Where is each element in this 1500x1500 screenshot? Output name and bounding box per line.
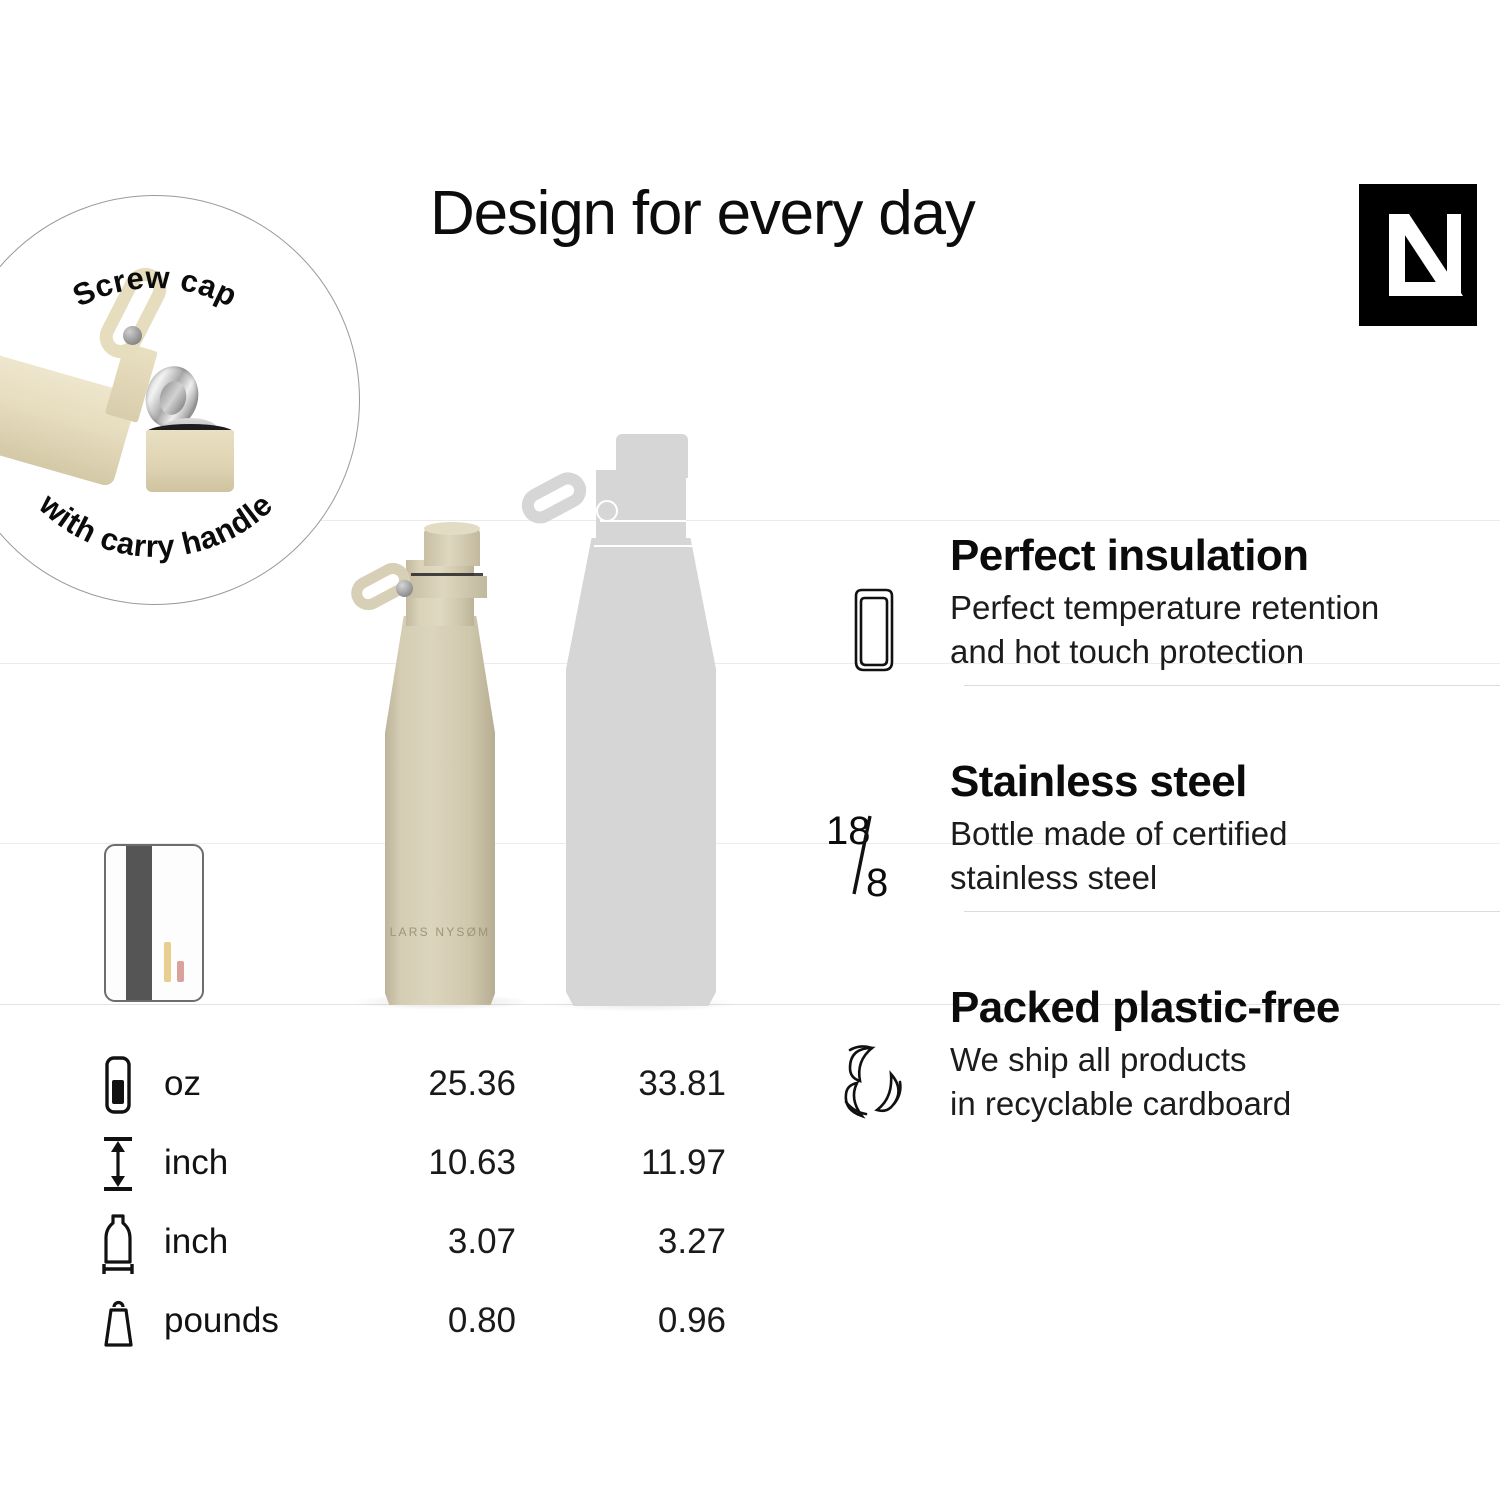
insulated-cup-icon (828, 578, 920, 682)
spec-label: pounds (164, 1301, 279, 1341)
card-magnetic-stripe (126, 844, 152, 1002)
feature-item-insulation: Perfect insulation Perfect temperature r… (820, 532, 1500, 758)
ghost-bottle-detail-line-1 (600, 520, 686, 522)
spec-value-small: 25.36 (306, 1064, 516, 1104)
feature-divider (964, 911, 1500, 912)
feature-item-plastic-free: Packed plastic-free We ship all products… (820, 984, 1500, 1210)
feature-item-stainless-steel: 18 8 Stainless steel Bottle made of cert… (820, 758, 1500, 984)
feature-desc-line-1: Bottle made of certified (950, 815, 1288, 852)
fraction-denominator: 8 (866, 861, 888, 905)
eighteen-eight-fraction-icon: 18 8 (820, 798, 930, 908)
weight-icon (96, 1291, 140, 1353)
feature-desc-line-2: stainless steel (950, 859, 1157, 896)
feature-desc-line-1: We ship all products (950, 1041, 1247, 1078)
height-arrow-icon (96, 1133, 140, 1195)
spec-label: inch (164, 1222, 228, 1262)
table-row: pounds 0.80 0.96 (96, 1285, 756, 1364)
feature-title: Stainless steel (950, 758, 1500, 806)
page-title: Design for every day (430, 178, 975, 249)
feature-description: Bottle made of certified stainless steel (950, 812, 1500, 902)
table-row: inch 3.07 3.27 (96, 1206, 756, 1285)
callout-bottom-label: with carry handle (32, 486, 279, 564)
ghost-bottle-rivet (596, 500, 618, 522)
product-bottle-handle-rivet (396, 580, 413, 597)
feature-desc-line-1: Perfect temperature retention (950, 589, 1379, 626)
spec-value-small: 10.63 (306, 1143, 516, 1183)
spec-value-small: 3.07 (306, 1222, 516, 1262)
brand-logo (1359, 184, 1477, 326)
spec-value-large: 11.97 (516, 1143, 726, 1183)
table-row: oz 25.36 33.81 (96, 1048, 756, 1127)
bottle-brand-text: LARS NYSØM (385, 925, 495, 939)
ghost-bottle-body (566, 538, 716, 1006)
card-accent-bar-2 (177, 961, 184, 982)
product-bottle-collar-ring (407, 576, 487, 598)
spec-value-small: 0.80 (306, 1301, 516, 1341)
feature-desc-line-2: and hot touch protection (950, 633, 1304, 670)
product-bottle-body (385, 616, 495, 1005)
specification-table: oz 25.36 33.81 inch 10.63 11.97 (96, 1048, 756, 1364)
callout-top-label: Screw cap (67, 260, 242, 314)
ghost-bottle-detail-line-2 (594, 545, 694, 547)
bottle-width-icon (96, 1212, 140, 1274)
table-row: inch 10.63 11.97 (96, 1127, 756, 1206)
spec-label: inch (164, 1143, 228, 1183)
infographic-canvas: Design for every day Screw cap with carr… (0, 0, 1500, 1500)
spec-value-large: 3.27 (516, 1222, 726, 1262)
card-accent-bar-1 (164, 942, 171, 982)
credit-card-size-reference (104, 844, 204, 1002)
spec-label: oz (164, 1064, 201, 1104)
feature-title: Packed plastic-free (950, 984, 1500, 1032)
feature-desc-line-2: in recyclable cardboard (950, 1085, 1291, 1122)
recycle-leaves-icon (828, 1030, 920, 1134)
spec-value-large: 33.81 (516, 1064, 726, 1104)
product-bottle-cap-top (424, 522, 480, 535)
ghost-bottle-neck (616, 434, 688, 478)
spec-value-large: 0.96 (516, 1301, 726, 1341)
bottle-volume-icon (96, 1054, 140, 1116)
feature-divider (964, 685, 1500, 686)
feature-description: Perfect temperature retention and hot to… (950, 586, 1500, 676)
callout-curved-labels: Screw cap with carry handle (0, 195, 360, 605)
feature-description: We ship all products in recyclable cardb… (950, 1038, 1500, 1128)
feature-list: Perfect insulation Perfect temperature r… (820, 532, 1500, 1210)
feature-title: Perfect insulation (950, 532, 1500, 580)
